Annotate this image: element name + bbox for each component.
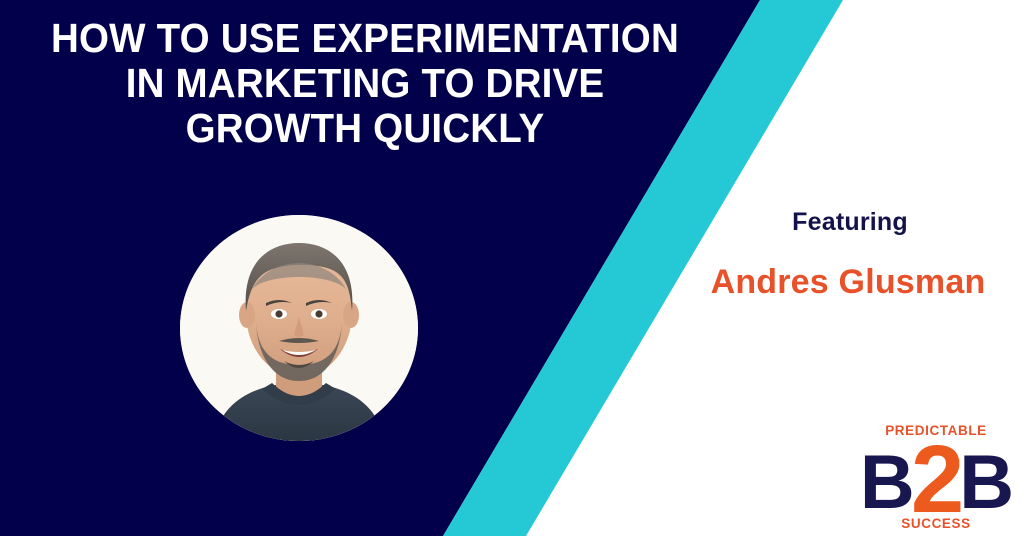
- title-line-2: IN MARKETING TO DRIVE: [22, 61, 708, 106]
- logo-letter-b-left: B: [860, 439, 913, 527]
- brand-logo: PREDICTABLE B 2 B SUCCESS: [866, 418, 1006, 536]
- speaker-name: Andres Glusman: [672, 263, 1024, 302]
- logo-numeral-2: 2: [911, 436, 961, 524]
- title-line-3: GROWTH QUICKLY: [22, 106, 708, 151]
- logo-wordmark: B 2 B: [866, 432, 1006, 520]
- slide-title: HOW TO USE EXPERIMENTATION IN MARKETING …: [0, 16, 730, 151]
- promo-slide: HOW TO USE EXPERIMENTATION IN MARKETING …: [0, 0, 1024, 536]
- portrait-illustration: [180, 215, 418, 441]
- speaker-portrait: [180, 215, 418, 441]
- title-line-1: HOW TO USE EXPERIMENTATION: [22, 16, 708, 61]
- logo-letter-b-right: B: [959, 439, 1012, 527]
- logo-bottom-word: SUCCESS: [866, 516, 1006, 531]
- featuring-label: Featuring: [700, 208, 1000, 237]
